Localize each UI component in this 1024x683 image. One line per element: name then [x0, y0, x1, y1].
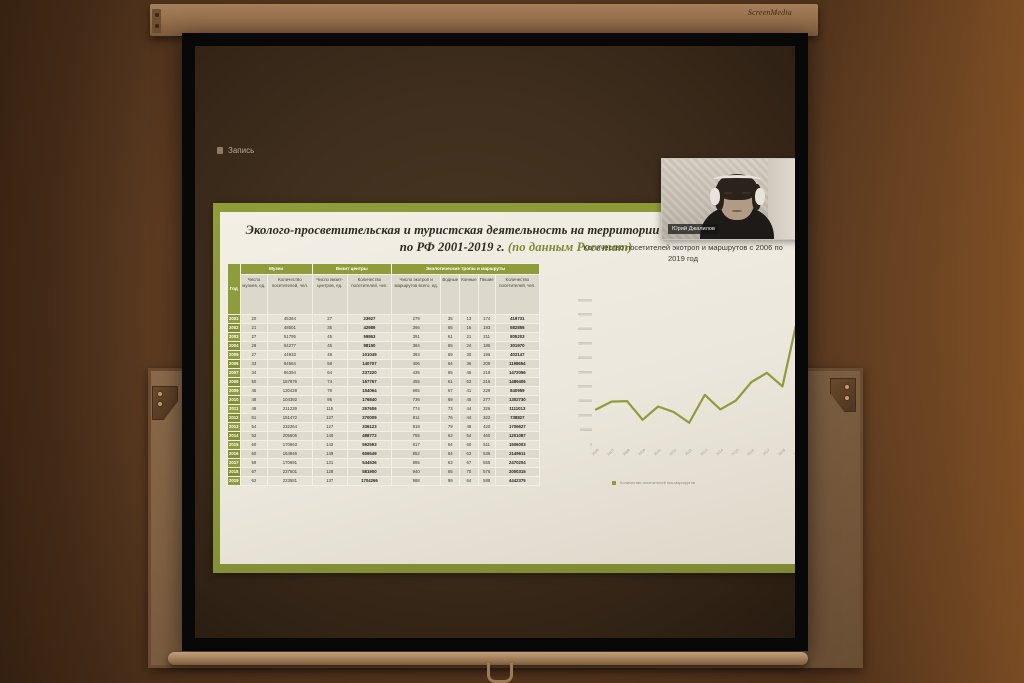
cell-year: 2004 [228, 342, 241, 351]
svg-text:0: 0 [590, 442, 592, 446]
cell-centers: 128 [312, 467, 347, 476]
cell-centers: 137 [312, 476, 347, 485]
table-group-header-row: Год Музеи Визит центры Экологические тро… [228, 264, 540, 275]
slide-content: Эколого-просветительская и туристская де… [220, 212, 795, 564]
cell-horse: 64 [460, 476, 478, 485]
housing-mount-bracket [152, 9, 161, 33]
wall-shadow-left [0, 0, 150, 683]
room-photo: ScreenMedia Запись Эколого-просветительс… [0, 0, 1024, 683]
svg-text:2015: 2015 [731, 448, 740, 456]
cell-trails: 455 [392, 378, 441, 387]
cell-foot: 216 [478, 378, 495, 387]
cell-centers: 74 [312, 378, 347, 387]
cell-museum-visitors: 232264 [268, 423, 312, 432]
cell-museum-visitors: 164946 [268, 449, 312, 458]
cell-center-visitors: 581900 [347, 467, 391, 476]
cell-museums: 60 [240, 449, 268, 458]
cell-water: 64 [441, 449, 460, 458]
cell-trails: 811 [392, 414, 441, 423]
table-row: 2001204536427239272793513174419731 [228, 315, 540, 324]
cell-trail-visitors: 2000315 [495, 467, 539, 476]
cell-museums: 62 [240, 476, 268, 485]
cell-museum-visitors: 170691 [268, 458, 312, 467]
table-row: 20135423226412733612391879484201706627 [228, 423, 540, 432]
cell-foot: 555 [478, 458, 495, 467]
cell-museums: 51 [240, 414, 268, 423]
cell-museum-visitors: 44933 [268, 351, 312, 360]
cell-year: 2006 [228, 360, 241, 369]
table-row: 201962223581137170426698899645884442375 [228, 476, 540, 485]
cell-water: 65 [441, 324, 460, 333]
table-row: 2008501578767415775745561532161489406 [228, 378, 540, 387]
table-row: 20175917069113154453689563675552470204 [228, 458, 540, 467]
cell-center-visitors: 592593 [347, 440, 391, 449]
cell-year: 2018 [228, 467, 241, 476]
statistics-table: Год Музеи Визит центры Экологические тро… [227, 263, 540, 486]
cell-museum-visitors: 151472 [268, 414, 312, 423]
cell-trails: 895 [392, 458, 441, 467]
cell-trail-visitors: 1472056 [495, 369, 539, 378]
cell-trails: 384 [392, 342, 441, 351]
cell-centers: 64 [312, 369, 347, 378]
cell-year: 2016 [228, 449, 241, 458]
svg-text:2006: 2006 [591, 448, 600, 456]
cell-water: 65 [441, 467, 460, 476]
cell-museum-visitors: 84564 [268, 360, 312, 369]
cell-foot: 229 [478, 387, 495, 396]
cell-museum-visitors: 205605 [268, 431, 312, 440]
cell-center-visitors: 140707 [347, 360, 391, 369]
cell-trail-visitors: 4442375 [495, 476, 539, 485]
svg-text:2007: 2007 [607, 448, 616, 456]
cell-horse: 60 [460, 440, 478, 449]
table-row: 20156017066314359259381764605111506003 [228, 440, 540, 449]
table-row: 2010481043929517684073669452771302730 [228, 396, 540, 405]
screen-pull-handle[interactable] [487, 663, 513, 683]
cell-water: 65 [441, 342, 460, 351]
svg-text:2010: 2010 [653, 448, 662, 456]
table-row: 20145320560514048877275563544601201087 [228, 431, 540, 440]
cell-trail-visitors: 840959 [495, 387, 539, 396]
cell-centers: 48 [312, 351, 347, 360]
chart-legend: Количество посетителей эко-маршрутов [612, 480, 695, 485]
cell-year: 2003 [228, 333, 241, 342]
cell-center-visitors: 157757 [347, 378, 391, 387]
table-row: 20166016494614960654985264635362149611 [228, 449, 540, 458]
cell-center-visitors: 154064 [347, 387, 391, 396]
table-head: Год Музеи Визит центры Экологические тро… [228, 264, 540, 315]
cell-museum-visitors: 157876 [268, 378, 312, 387]
cell-museums: 49 [240, 405, 268, 414]
cell-foot: 460 [478, 431, 495, 440]
cell-horse: 46 [460, 369, 478, 378]
table-row: 2003275179545598633916121211805203 [228, 333, 540, 342]
cell-foot: 576 [478, 467, 495, 476]
sub-trail-visitors: Количество посетителей, чел. [495, 275, 539, 315]
cell-trails: 852 [392, 449, 441, 458]
cell-year: 2013 [228, 423, 241, 432]
headphones-icon [713, 175, 761, 184]
table-row: 200945130428791540646656741229840959 [228, 387, 540, 396]
cell-foot: 211 [478, 333, 495, 342]
cell-museums: 60 [240, 440, 268, 449]
cell-museum-visitors: 45364 [268, 315, 312, 324]
cell-water: 61 [441, 333, 460, 342]
cell-center-visitors: 176840 [347, 396, 391, 405]
cell-trails: 665 [392, 387, 441, 396]
cell-year: 2005 [228, 351, 241, 360]
cell-trail-visitors: 301970 [495, 342, 539, 351]
projector-screen-housing: ScreenMedia [150, 4, 818, 36]
svg-text:2011: 2011 [669, 448, 677, 456]
cell-trails: 279 [392, 315, 441, 324]
svg-text:4000000: 4000000 [578, 327, 592, 331]
cell-trails: 940 [392, 467, 441, 476]
svg-text:5000000: 5000000 [578, 298, 592, 302]
cell-horse: 63 [460, 449, 478, 458]
cell-museums: 59 [240, 458, 268, 467]
cell-centers: 127 [312, 423, 347, 432]
cell-foot: 185 [478, 342, 495, 351]
table-row: 200734863946423722043565462191472056 [228, 369, 540, 378]
cell-horse: 24 [460, 342, 478, 351]
cell-trail-visitors: 582855 [495, 324, 539, 333]
projection-screen-frame: Запись Эколого-просветительская и турист… [182, 33, 808, 651]
cell-water: 69 [441, 396, 460, 405]
cell-trails: 736 [392, 396, 441, 405]
legend-swatch-icon [612, 481, 616, 485]
cell-trails: 435 [392, 369, 441, 378]
cell-museum-visitors: 130428 [268, 387, 312, 396]
cell-horse: 54 [460, 431, 478, 440]
cell-centers: 35 [312, 324, 347, 333]
cell-museum-visitors: 51795 [268, 333, 312, 342]
cell-trails: 918 [392, 423, 441, 432]
presentation-slide: Эколого-просветительская и туристская де… [213, 203, 795, 573]
svg-text:2012: 2012 [684, 448, 693, 456]
cell-year: 2007 [228, 369, 241, 378]
cell-museums: 21 [240, 324, 268, 333]
cell-water: 61 [441, 378, 460, 387]
cell-museums: 20 [240, 315, 268, 324]
cell-water: 63 [441, 458, 460, 467]
cell-centers: 131 [312, 458, 347, 467]
cell-horse: 67 [460, 458, 478, 467]
cell-museums: 27 [240, 351, 268, 360]
cell-center-visitors: 606549 [347, 449, 391, 458]
headphone-cup-left [710, 188, 720, 205]
cell-museums: 27 [240, 333, 268, 342]
svg-text:500000: 500000 [580, 428, 592, 432]
cell-horse: 36 [460, 360, 478, 369]
cell-trails: 406 [392, 360, 441, 369]
table-body: 2001204536427239272793513174419731200221… [228, 315, 540, 486]
cell-trail-visitors: 1489406 [495, 378, 539, 387]
table-row: 200633845645814070740664362081198654 [228, 360, 540, 369]
cell-year: 2019 [228, 476, 241, 485]
cell-horse: 53 [460, 378, 478, 387]
cell-museums: 67 [240, 467, 268, 476]
chart-title: Количество посетителей экотроп и маршрут… [550, 242, 795, 265]
cell-water: 63 [441, 431, 460, 440]
cell-water: 99 [441, 476, 460, 485]
cell-foot: 326 [478, 405, 495, 414]
cell-water: 64 [441, 360, 460, 369]
sub-center-visitors: Количество посетителей, чел. [347, 275, 391, 315]
table-row: 20186723750112858190094065705762000315 [228, 467, 540, 476]
cell-museum-visitors: 48501 [268, 324, 312, 333]
cell-year: 2009 [228, 387, 241, 396]
cell-year: 2012 [228, 414, 241, 423]
cell-centers: 95 [312, 396, 347, 405]
svg-text:4500000: 4500000 [578, 313, 592, 317]
sub-museum-count: Число музеев, ед. [240, 275, 268, 315]
cell-trails: 366 [392, 324, 441, 333]
cell-center-visitors: 59863 [347, 333, 391, 342]
cell-center-visitors: 23927 [347, 315, 391, 324]
cell-trail-visitors: 403147 [495, 351, 539, 360]
headphone-cup-right [755, 188, 765, 205]
cell-water: 64 [441, 440, 460, 449]
cell-trail-visitors: 1506003 [495, 440, 539, 449]
cell-foot: 219 [478, 369, 495, 378]
projection-screen-surface: Запись Эколого-просветительская и турист… [195, 46, 795, 638]
table-row: 2004285427745981503846524185301970 [228, 342, 540, 351]
participant-name-label: Юрий Джалилов [668, 224, 719, 234]
cell-water: 79 [441, 423, 460, 432]
cell-trail-visitors: 738827 [495, 414, 539, 423]
cell-horse: 70 [460, 467, 478, 476]
cell-foot: 536 [478, 449, 495, 458]
col-year: Год [228, 264, 241, 315]
cell-trails: 755 [392, 431, 441, 440]
cell-museum-visitors: 104392 [268, 396, 312, 405]
record-icon [217, 147, 223, 154]
cell-year: 2017 [228, 458, 241, 467]
cell-museum-visitors: 223581 [268, 476, 312, 485]
cell-trail-visitors: 1111013 [495, 405, 539, 414]
cell-horse: 44 [460, 405, 478, 414]
cell-museums: 48 [240, 396, 268, 405]
svg-text:2008: 2008 [622, 448, 631, 456]
table-row: 20114921123911525760677473443261111013 [228, 405, 540, 414]
svg-text:1000000: 1000000 [578, 414, 592, 418]
cell-foot: 277 [478, 396, 495, 405]
cell-centers: 140 [312, 431, 347, 440]
sub-museum-visitors: Количество посетителей, чел. [268, 275, 312, 315]
cell-horse: 48 [460, 423, 478, 432]
cell-center-visitors: 336123 [347, 423, 391, 432]
sub-water: Водные [441, 275, 460, 315]
table-row: 2002214850135429893666516193582855 [228, 324, 540, 333]
cell-water: 76 [441, 414, 460, 423]
cell-foot: 174 [478, 315, 495, 324]
cell-water: 65 [441, 369, 460, 378]
cell-center-visitors: 237220 [347, 369, 391, 378]
cell-trail-visitors: 1302730 [495, 396, 539, 405]
cell-museum-visitors: 211239 [268, 405, 312, 414]
cell-trail-visitors: 2149611 [495, 449, 539, 458]
col-eco-trails: Экологические тропы и маршруты [392, 264, 540, 275]
cell-centers: 45 [312, 333, 347, 342]
cell-centers: 27 [312, 315, 347, 324]
cell-centers: 58 [312, 360, 347, 369]
cell-year: 2015 [228, 440, 241, 449]
cell-trail-visitors: 419731 [495, 315, 539, 324]
cell-center-visitors: 488772 [347, 431, 391, 440]
cell-foot: 193 [478, 324, 495, 333]
cell-museums: 53 [240, 431, 268, 440]
cell-year: 2002 [228, 324, 241, 333]
sub-foot: Пешие [478, 275, 495, 315]
cell-year: 2001 [228, 315, 241, 324]
cell-horse: 41 [460, 387, 478, 396]
cell-trails: 988 [392, 476, 441, 485]
svg-text:2009: 2009 [638, 448, 647, 456]
cell-trail-visitors: 1201087 [495, 431, 539, 440]
cell-museums: 54 [240, 423, 268, 432]
cell-foot: 588 [478, 476, 495, 485]
svg-text:2014: 2014 [715, 448, 724, 456]
cell-trails: 774 [392, 405, 441, 414]
cell-horse: 21 [460, 333, 478, 342]
cell-trails: 393 [392, 351, 441, 360]
cell-year: 2010 [228, 396, 241, 405]
svg-text:2013: 2013 [700, 448, 709, 456]
table-sub-header-row: Число музеев, ед. Количество посетителей… [228, 275, 540, 315]
sub-horse: Конные [460, 275, 478, 315]
cell-water: 35 [441, 315, 460, 324]
cell-centers: 115 [312, 405, 347, 414]
cell-horse: 45 [460, 396, 478, 405]
svg-text:1500000: 1500000 [578, 399, 592, 403]
cell-horse: 44 [460, 414, 478, 423]
cell-foot: 420 [478, 423, 495, 432]
recording-label: Запись [228, 146, 254, 155]
cell-year: 2011 [228, 405, 241, 414]
cell-trails: 817 [392, 440, 441, 449]
cell-museums: 50 [240, 378, 268, 387]
table-row: 20052744933481010493936930196403147 [228, 351, 540, 360]
chart-series-line [596, 316, 795, 423]
cell-foot: 511 [478, 440, 495, 449]
cell-centers: 149 [312, 449, 347, 458]
svg-text:2017: 2017 [762, 448, 771, 456]
cell-museum-visitors: 86394 [268, 369, 312, 378]
sub-trail-count: Число экотроп и маршрутов всего, ед. [392, 275, 441, 315]
visitors-line-chart: Количество посетителей экотроп и маршрут… [550, 242, 795, 532]
cell-museums: 45 [240, 387, 268, 396]
cell-foot: 322 [478, 414, 495, 423]
chart-svg: 0500000100000015000002000000250000030000… [550, 294, 795, 474]
cell-foot: 208 [478, 360, 495, 369]
cell-trail-visitors: 2470204 [495, 458, 539, 467]
cell-center-visitors: 101049 [347, 351, 391, 360]
col-visit-centers: Визит центры [312, 264, 392, 275]
cell-horse: 16 [460, 324, 478, 333]
screen-brand-logo: ScreenMedia [748, 8, 792, 17]
svg-text:2500000: 2500000 [578, 370, 592, 374]
legend-label: Количество посетителей эко-маршрутов [620, 480, 695, 485]
cell-museums: 33 [240, 360, 268, 369]
cell-centers: 79 [312, 387, 347, 396]
svg-text:2016: 2016 [746, 448, 755, 456]
cell-center-visitors: 544536 [347, 458, 391, 467]
cell-centers: 143 [312, 440, 347, 449]
cell-horse: 13 [460, 315, 478, 324]
sub-center-count: Число визит-центров, ед. [312, 275, 347, 315]
cell-museums: 34 [240, 369, 268, 378]
svg-text:2019: 2019 [793, 448, 795, 456]
cell-centers: 45 [312, 342, 347, 351]
cell-center-visitors: 257606 [347, 405, 391, 414]
cell-center-visitors: 42989 [347, 324, 391, 333]
cell-trail-visitors: 1198654 [495, 360, 539, 369]
cell-year: 2008 [228, 378, 241, 387]
chart-y-axis: 0500000100000015000002000000250000030000… [578, 298, 592, 446]
cell-year: 2014 [228, 431, 241, 440]
svg-text:3500000: 3500000 [578, 342, 592, 346]
slide-title-line1: Эколого-просветительская и туристская де… [246, 223, 585, 237]
col-museums: Музеи [240, 264, 312, 275]
cell-museum-visitors: 237501 [268, 467, 312, 476]
svg-text:3000000: 3000000 [578, 356, 592, 360]
video-participant-thumbnail[interactable]: Юрий Джалилов [661, 158, 795, 240]
svg-text:2018: 2018 [777, 448, 786, 456]
svg-text:2000000: 2000000 [578, 385, 592, 389]
cell-water: 69 [441, 351, 460, 360]
cell-museum-visitors: 54277 [268, 342, 312, 351]
chart-plot-area: 0500000100000015000002000000250000030000… [550, 294, 795, 474]
chart-x-axis: 2006200720082009201020112012201320142015… [591, 448, 795, 456]
cell-water: 73 [441, 405, 460, 414]
cell-center-visitors: 98150 [347, 342, 391, 351]
cell-trails: 391 [392, 333, 441, 342]
cell-horse: 30 [460, 351, 478, 360]
cell-trail-visitors: 805203 [495, 333, 539, 342]
table-row: 2012511514721272700098117644322738827 [228, 414, 540, 423]
cell-trail-visitors: 1706627 [495, 423, 539, 432]
cell-foot: 196 [478, 351, 495, 360]
cell-water: 67 [441, 387, 460, 396]
recording-indicator: Запись [217, 146, 254, 155]
cell-centers: 127 [312, 414, 347, 423]
cell-museum-visitors: 170663 [268, 440, 312, 449]
cell-center-visitors: 270009 [347, 414, 391, 423]
cell-center-visitors: 1704266 [347, 476, 391, 485]
cell-museums: 28 [240, 342, 268, 351]
